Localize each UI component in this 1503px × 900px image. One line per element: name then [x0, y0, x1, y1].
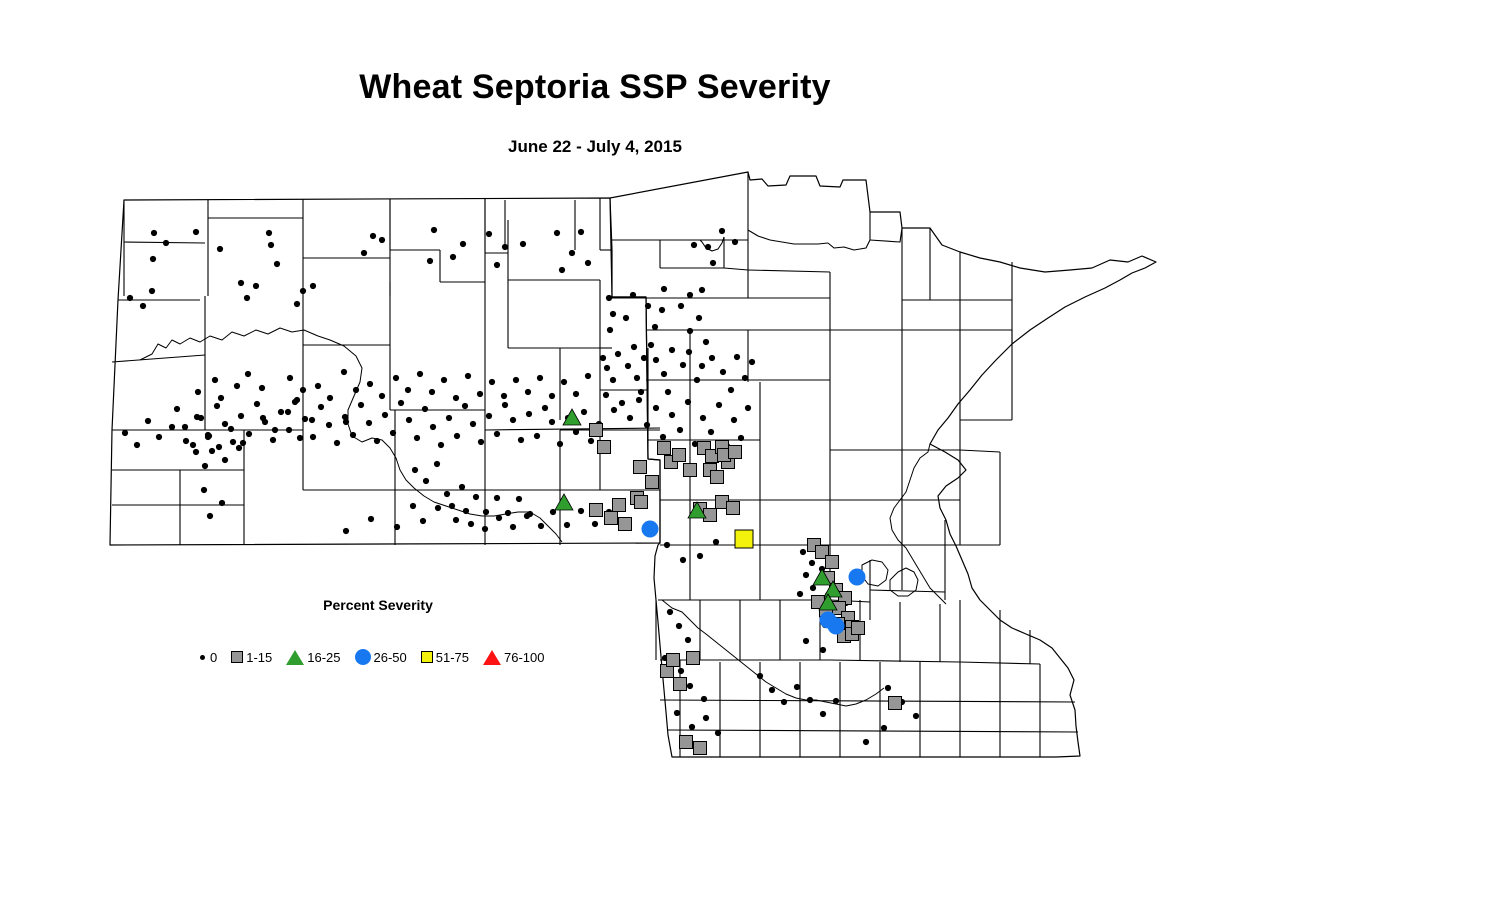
severity-point-0[interactable]: [678, 668, 684, 674]
severity-point-0[interactable]: [615, 351, 621, 357]
severity-point-0[interactable]: [417, 371, 423, 377]
severity-point-0[interactable]: [525, 389, 531, 395]
severity-point-0[interactable]: [268, 242, 274, 248]
severity-point-0[interactable]: [390, 430, 396, 436]
severity-point-1-15[interactable]: [704, 509, 717, 522]
severity-point-0[interactable]: [127, 295, 133, 301]
severity-point-1-15[interactable]: [673, 449, 686, 462]
severity-point-0[interactable]: [310, 283, 316, 289]
severity-point-1-15[interactable]: [852, 622, 865, 635]
severity-point-0[interactable]: [449, 503, 455, 509]
severity-point-0[interactable]: [285, 409, 291, 415]
severity-point-0[interactable]: [410, 503, 416, 509]
severity-point-0[interactable]: [518, 437, 524, 443]
legend-item-76-100[interactable]: 76-100: [483, 650, 544, 665]
severity-point-0[interactable]: [412, 467, 418, 473]
severity-point-0[interactable]: [245, 371, 251, 377]
severity-point-0[interactable]: [820, 647, 826, 653]
severity-point-16-25[interactable]: [555, 494, 573, 510]
severity-point-0[interactable]: [394, 524, 400, 530]
severity-point-1-15[interactable]: [635, 496, 648, 509]
severity-point-0[interactable]: [794, 684, 800, 690]
severity-point-0[interactable]: [627, 415, 633, 421]
severity-point-0[interactable]: [483, 509, 489, 515]
severity-point-1-15[interactable]: [727, 502, 740, 515]
severity-point-26-50[interactable]: [820, 612, 837, 629]
severity-point-0[interactable]: [169, 424, 175, 430]
severity-point-0[interactable]: [797, 591, 803, 597]
severity-point-0[interactable]: [478, 439, 484, 445]
severity-point-0[interactable]: [674, 710, 680, 716]
severity-point-0[interactable]: [368, 516, 374, 522]
severity-point-0[interactable]: [366, 420, 372, 426]
severity-point-1-15[interactable]: [694, 742, 707, 755]
severity-point-0[interactable]: [800, 549, 806, 555]
severity-point-0[interactable]: [341, 369, 347, 375]
severity-point-0[interactable]: [913, 713, 919, 719]
severity-point-0[interactable]: [881, 725, 887, 731]
severity-point-0[interactable]: [603, 392, 609, 398]
severity-point-0[interactable]: [236, 445, 242, 451]
severity-point-0[interactable]: [228, 426, 234, 432]
severity-point-0[interactable]: [183, 438, 189, 444]
severity-point-0[interactable]: [501, 393, 507, 399]
severity-point-0[interactable]: [286, 427, 292, 433]
severity-point-0[interactable]: [559, 267, 565, 273]
severity-point-0[interactable]: [549, 393, 555, 399]
severity-point-0[interactable]: [680, 362, 686, 368]
severity-point-1-15[interactable]: [598, 441, 611, 454]
severity-point-0[interactable]: [222, 457, 228, 463]
severity-point-1-15[interactable]: [590, 504, 603, 517]
severity-point-0[interactable]: [606, 295, 612, 301]
severity-point-0[interactable]: [429, 389, 435, 395]
severity-point-0[interactable]: [803, 638, 809, 644]
severity-point-0[interactable]: [687, 328, 693, 334]
severity-point-0[interactable]: [510, 524, 516, 530]
severity-point-0[interactable]: [209, 448, 215, 454]
severity-point-0[interactable]: [216, 444, 222, 450]
severity-point-1-15[interactable]: [634, 461, 647, 474]
severity-point-0[interactable]: [398, 400, 404, 406]
severity-point-0[interactable]: [526, 411, 532, 417]
severity-point-0[interactable]: [292, 399, 298, 405]
severity-point-0[interactable]: [414, 435, 420, 441]
severity-point-0[interactable]: [343, 419, 349, 425]
severity-point-0[interactable]: [427, 258, 433, 264]
severity-point-0[interactable]: [734, 354, 740, 360]
severity-point-0[interactable]: [611, 407, 617, 413]
severity-point-0[interactable]: [462, 403, 468, 409]
severity-point-1-15[interactable]: [613, 499, 626, 512]
severity-point-0[interactable]: [212, 377, 218, 383]
severity-point-0[interactable]: [353, 387, 359, 393]
severity-point-0[interactable]: [327, 395, 333, 401]
severity-point-0[interactable]: [630, 292, 636, 298]
severity-point-0[interactable]: [205, 434, 211, 440]
severity-point-0[interactable]: [513, 377, 519, 383]
severity-point-0[interactable]: [710, 260, 716, 266]
severity-point-0[interactable]: [358, 402, 364, 408]
severity-point-0[interactable]: [705, 244, 711, 250]
severity-point-0[interactable]: [406, 417, 412, 423]
severity-point-0[interactable]: [473, 494, 479, 500]
severity-point-0[interactable]: [494, 431, 500, 437]
severity-point-0[interactable]: [140, 303, 146, 309]
severity-point-0[interactable]: [863, 739, 869, 745]
severity-point-0[interactable]: [350, 432, 356, 438]
severity-point-0[interactable]: [669, 412, 675, 418]
severity-point-26-50[interactable]: [642, 521, 659, 538]
severity-point-0[interactable]: [610, 311, 616, 317]
severity-point-0[interactable]: [434, 461, 440, 467]
severity-point-0[interactable]: [207, 513, 213, 519]
severity-point-0[interactable]: [685, 399, 691, 405]
severity-point-0[interactable]: [122, 430, 128, 436]
severity-point-0[interactable]: [453, 395, 459, 401]
severity-point-0[interactable]: [453, 517, 459, 523]
severity-point-0[interactable]: [246, 431, 252, 437]
severity-point-0[interactable]: [343, 528, 349, 534]
severity-point-0[interactable]: [592, 521, 598, 527]
severity-point-0[interactable]: [731, 417, 737, 423]
severity-point-0[interactable]: [502, 244, 508, 250]
severity-point-0[interactable]: [564, 522, 570, 528]
severity-point-0[interactable]: [190, 442, 196, 448]
severity-point-0[interactable]: [581, 409, 587, 415]
severity-point-0[interactable]: [745, 405, 751, 411]
severity-point-0[interactable]: [163, 240, 169, 246]
severity-point-0[interactable]: [685, 637, 691, 643]
severity-point-51-75[interactable]: [735, 530, 753, 548]
severity-point-0[interactable]: [270, 437, 276, 443]
severity-point-0[interactable]: [297, 435, 303, 441]
severity-point-0[interactable]: [423, 478, 429, 484]
severity-point-0[interactable]: [134, 442, 140, 448]
severity-point-0[interactable]: [315, 383, 321, 389]
severity-point-0[interactable]: [701, 696, 707, 702]
severity-point-0[interactable]: [557, 441, 563, 447]
severity-point-0[interactable]: [631, 344, 637, 350]
severity-point-0[interactable]: [441, 377, 447, 383]
severity-point-0[interactable]: [214, 403, 220, 409]
severity-point-0[interactable]: [600, 355, 606, 361]
severity-point-0[interactable]: [450, 254, 456, 260]
severity-point-0[interactable]: [709, 355, 715, 361]
severity-point-0[interactable]: [238, 413, 244, 419]
severity-point-0[interactable]: [278, 409, 284, 415]
severity-point-0[interactable]: [217, 246, 223, 252]
severity-point-0[interactable]: [700, 415, 706, 421]
severity-point-0[interactable]: [573, 391, 579, 397]
severity-point-0[interactable]: [465, 373, 471, 379]
severity-point-26-50[interactable]: [849, 569, 866, 586]
severity-point-0[interactable]: [334, 440, 340, 446]
severity-point-0[interactable]: [510, 417, 516, 423]
severity-point-0[interactable]: [300, 288, 306, 294]
severity-point-0[interactable]: [713, 539, 719, 545]
severity-point-0[interactable]: [719, 228, 725, 234]
severity-point-0[interactable]: [193, 449, 199, 455]
severity-point-0[interactable]: [460, 241, 466, 247]
severity-point-0[interactable]: [302, 416, 308, 422]
severity-point-0[interactable]: [505, 510, 511, 516]
severity-point-0[interactable]: [708, 429, 714, 435]
severity-point-0[interactable]: [687, 683, 693, 689]
severity-map[interactable]: [0, 0, 1503, 900]
severity-point-0[interactable]: [463, 508, 469, 514]
severity-point-0[interactable]: [182, 424, 188, 430]
severity-point-0[interactable]: [585, 373, 591, 379]
severity-point-0[interactable]: [446, 415, 452, 421]
severity-point-0[interactable]: [696, 315, 702, 321]
severity-point-0[interactable]: [610, 377, 616, 383]
severity-point-0[interactable]: [653, 357, 659, 363]
severity-point-0[interactable]: [625, 363, 631, 369]
severity-point-0[interactable]: [201, 487, 207, 493]
severity-point-0[interactable]: [222, 421, 228, 427]
severity-point-0[interactable]: [254, 401, 260, 407]
severity-point-0[interactable]: [444, 491, 450, 497]
map-page: Wheat Septoria SSP Severity June 22 - Ju…: [0, 0, 1503, 900]
severity-point-1-15[interactable]: [826, 556, 839, 569]
severity-point-0[interactable]: [697, 553, 703, 559]
severity-point-0[interactable]: [636, 397, 642, 403]
black-dot-icon: [200, 655, 205, 660]
severity-point-0[interactable]: [379, 237, 385, 243]
severity-point-0[interactable]: [218, 395, 224, 401]
severity-point-0[interactable]: [430, 424, 436, 430]
severity-point-0[interactable]: [664, 542, 670, 548]
severity-point-1-15[interactable]: [646, 476, 659, 489]
severity-point-0[interactable]: [716, 402, 722, 408]
severity-point-0[interactable]: [699, 287, 705, 293]
severity-point-0[interactable]: [660, 434, 666, 440]
map-svg[interactable]: [0, 0, 1503, 900]
severity-point-1-15[interactable]: [687, 652, 700, 665]
severity-point-0[interactable]: [156, 434, 162, 440]
severity-point-0[interactable]: [489, 379, 495, 385]
severity-point-0[interactable]: [382, 412, 388, 418]
severity-point-0[interactable]: [676, 623, 682, 629]
severity-point-1-15[interactable]: [667, 654, 680, 667]
severity-point-0[interactable]: [803, 572, 809, 578]
severity-point-0[interactable]: [661, 371, 667, 377]
severity-point-0[interactable]: [738, 435, 744, 441]
severity-point-0[interactable]: [361, 250, 367, 256]
severity-point-0[interactable]: [549, 419, 555, 425]
severity-point-0[interactable]: [569, 250, 575, 256]
severity-point-0[interactable]: [219, 500, 225, 506]
severity-point-0[interactable]: [272, 427, 278, 433]
severity-point-0[interactable]: [807, 697, 813, 703]
severity-point-0[interactable]: [885, 685, 891, 691]
severity-point-0[interactable]: [542, 405, 548, 411]
severity-point-0[interactable]: [309, 417, 315, 423]
severity-point-0[interactable]: [641, 355, 647, 361]
severity-point-0[interactable]: [769, 687, 775, 693]
severity-point-0[interactable]: [145, 418, 151, 424]
severity-point-0[interactable]: [653, 405, 659, 411]
severity-point-0[interactable]: [820, 711, 826, 717]
severity-point-0[interactable]: [732, 239, 738, 245]
severity-point-1-15[interactable]: [619, 518, 632, 531]
severity-point-0[interactable]: [393, 375, 399, 381]
severity-point-0[interactable]: [234, 383, 240, 389]
severity-point-0[interactable]: [435, 505, 441, 511]
legend-item-16-25[interactable]: 16-25: [286, 650, 340, 665]
severity-point-0[interactable]: [554, 230, 560, 236]
severity-point-0[interactable]: [520, 241, 526, 247]
severity-point-0[interactable]: [667, 609, 673, 615]
severity-point-1-15[interactable]: [889, 697, 902, 710]
severity-point-0[interactable]: [240, 440, 246, 446]
severity-point-0[interactable]: [689, 724, 695, 730]
severity-point-0[interactable]: [809, 560, 815, 566]
severity-point-0[interactable]: [757, 673, 763, 679]
legend-item-1-15[interactable]: 1-15: [231, 650, 272, 665]
severity-point-0[interactable]: [573, 429, 579, 435]
severity-point-0[interactable]: [604, 365, 610, 371]
severity-point-0[interactable]: [459, 484, 465, 490]
severity-point-0[interactable]: [678, 303, 684, 309]
severity-point-0[interactable]: [374, 438, 380, 444]
severity-point-0[interactable]: [538, 523, 544, 529]
severity-point-0[interactable]: [694, 377, 700, 383]
severity-point-0[interactable]: [691, 242, 697, 248]
severity-point-0[interactable]: [634, 375, 640, 381]
severity-point-0[interactable]: [810, 585, 816, 591]
severity-point-0[interactable]: [703, 715, 709, 721]
severity-point-0[interactable]: [645, 303, 651, 309]
severity-point-1-15[interactable]: [590, 424, 603, 437]
legend-item-26-50[interactable]: 26-50: [355, 649, 407, 665]
severity-point-0[interactable]: [578, 229, 584, 235]
severity-point-0[interactable]: [677, 427, 683, 433]
severity-point-1-15[interactable]: [658, 442, 671, 455]
severity-points-51-75[interactable]: [735, 530, 753, 548]
severity-point-0[interactable]: [652, 324, 658, 330]
severity-point-0[interactable]: [195, 389, 201, 395]
severity-point-0[interactable]: [742, 375, 748, 381]
severity-point-0[interactable]: [300, 387, 306, 393]
severity-point-0[interactable]: [260, 415, 266, 421]
severity-point-0[interactable]: [537, 375, 543, 381]
severity-point-0[interactable]: [370, 233, 376, 239]
severity-point-0[interactable]: [486, 413, 492, 419]
severity-point-0[interactable]: [494, 262, 500, 268]
severity-point-0[interactable]: [253, 283, 259, 289]
severity-point-0[interactable]: [720, 369, 726, 375]
severity-point-0[interactable]: [524, 513, 530, 519]
severity-point-0[interactable]: [318, 404, 324, 410]
severity-point-0[interactable]: [607, 327, 613, 333]
severity-point-0[interactable]: [259, 385, 265, 391]
severity-point-0[interactable]: [588, 438, 594, 444]
severity-point-1-15[interactable]: [605, 512, 618, 525]
severity-point-0[interactable]: [193, 229, 199, 235]
severity-point-0[interactable]: [310, 434, 316, 440]
severity-point-0[interactable]: [638, 389, 644, 395]
severity-point-0[interactable]: [294, 301, 300, 307]
legend-label-76-100: 76-100: [504, 650, 544, 665]
severity-point-0[interactable]: [194, 414, 200, 420]
severity-point-0[interactable]: [665, 389, 671, 395]
severity-point-0[interactable]: [680, 557, 686, 563]
severity-point-0[interactable]: [422, 406, 428, 412]
severity-point-0[interactable]: [486, 231, 492, 237]
severity-point-0[interactable]: [438, 442, 444, 448]
severity-point-1-15[interactable]: [680, 736, 693, 749]
severity-point-0[interactable]: [496, 515, 502, 521]
severity-point-0[interactable]: [661, 286, 667, 292]
severity-points-1-15[interactable]: [590, 424, 902, 755]
severity-point-0[interactable]: [244, 295, 250, 301]
severity-point-0[interactable]: [431, 227, 437, 233]
severity-point-0[interactable]: [619, 400, 625, 406]
severity-point-0[interactable]: [749, 359, 755, 365]
severity-point-0[interactable]: [781, 699, 787, 705]
severity-point-0[interactable]: [230, 439, 236, 445]
severity-point-0[interactable]: [468, 521, 474, 527]
severity-point-0[interactable]: [833, 698, 839, 704]
severity-point-0[interactable]: [669, 347, 675, 353]
severity-point-1-15[interactable]: [729, 446, 742, 459]
severity-point-0[interactable]: [502, 402, 508, 408]
severity-point-0[interactable]: [699, 363, 705, 369]
severity-point-0[interactable]: [470, 421, 476, 427]
severity-point-0[interactable]: [326, 422, 332, 428]
severity-point-0[interactable]: [287, 375, 293, 381]
severity-point-1-15[interactable]: [674, 678, 687, 691]
severity-point-0[interactable]: [379, 393, 385, 399]
severity-point-0[interactable]: [585, 260, 591, 266]
severity-point-0[interactable]: [420, 518, 426, 524]
severity-point-0[interactable]: [405, 387, 411, 393]
severity-point-0[interactable]: [516, 496, 522, 502]
severity-point-0[interactable]: [174, 406, 180, 412]
severity-point-0[interactable]: [703, 339, 709, 345]
severity-point-0[interactable]: [715, 730, 721, 736]
severity-point-0[interactable]: [202, 463, 208, 469]
severity-point-0[interactable]: [578, 508, 584, 514]
severity-point-0[interactable]: [238, 280, 244, 286]
severity-point-0[interactable]: [728, 387, 734, 393]
severity-point-0[interactable]: [623, 315, 629, 321]
severity-point-0[interactable]: [482, 526, 488, 532]
severity-point-0[interactable]: [454, 433, 460, 439]
severity-point-0[interactable]: [494, 495, 500, 501]
severity-point-0[interactable]: [644, 422, 650, 428]
severity-point-0[interactable]: [266, 230, 272, 236]
severity-point-0[interactable]: [686, 349, 692, 355]
severity-point-0[interactable]: [149, 288, 155, 294]
severity-point-0[interactable]: [648, 342, 654, 348]
severity-point-0[interactable]: [367, 381, 373, 387]
legend-item-51-75[interactable]: 51-75: [421, 650, 469, 665]
severity-point-0[interactable]: [150, 256, 156, 262]
legend-item-0[interactable]: 0: [200, 650, 217, 665]
severity-point-0[interactable]: [687, 292, 693, 298]
severity-point-0[interactable]: [534, 433, 540, 439]
severity-point-0[interactable]: [151, 230, 157, 236]
severity-point-0[interactable]: [561, 379, 567, 385]
severity-point-1-15[interactable]: [711, 471, 724, 484]
severity-point-1-15[interactable]: [684, 464, 697, 477]
severity-point-0[interactable]: [659, 307, 665, 313]
severity-point-0[interactable]: [477, 391, 483, 397]
severity-point-0[interactable]: [274, 261, 280, 267]
